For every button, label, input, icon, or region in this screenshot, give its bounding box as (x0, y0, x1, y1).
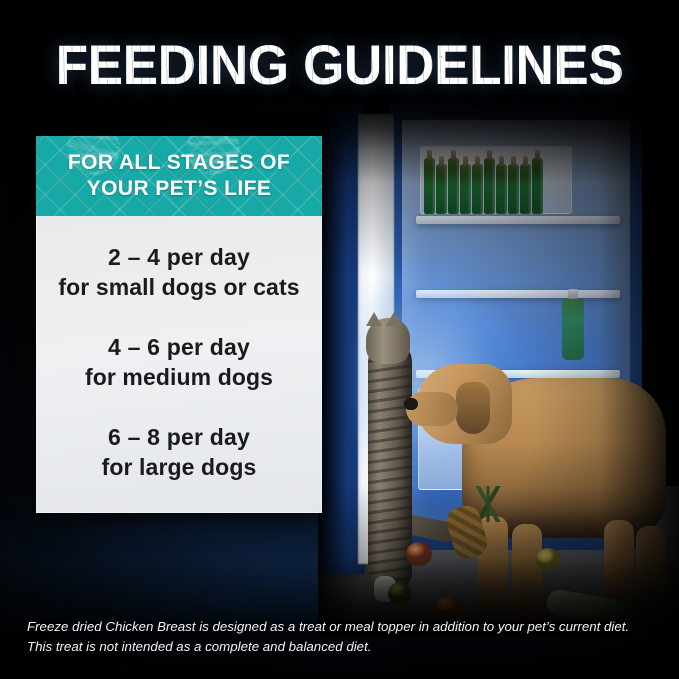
feeding-row-small: 2 – 4 per day for small dogs or cats (47, 242, 311, 302)
card-header-line-1: FOR ALL STAGES OF (68, 151, 290, 174)
card-header-line-2: YOUR PET’S LIFE (87, 177, 272, 200)
feeding-audience: for large dogs (47, 452, 311, 482)
disclaimer-line-2: This treat is not intended as a complete… (27, 637, 661, 657)
card-header: FOR ALL STAGES OF YOUR PET’S LIFE (36, 136, 322, 216)
feeding-guidelines-poster: FEEDING GUIDELINES FOR ALL STAGES OF YOU… (0, 0, 679, 679)
disclaimer-line-1: Freeze dried Chicken Breast is designed … (27, 617, 661, 637)
feeding-amount: 2 – 4 per day (47, 242, 311, 272)
feeding-amount: 4 – 6 per day (47, 332, 311, 362)
feeding-audience: for medium dogs (47, 362, 311, 392)
feeding-amount: 6 – 8 per day (47, 422, 311, 452)
page-title: FEEDING GUIDELINES (17, 36, 662, 94)
feeding-guidelines-card: FOR ALL STAGES OF YOUR PET’S LIFE 2 – 4 … (36, 136, 322, 513)
feeding-audience: for small dogs or cats (47, 272, 311, 302)
disclaimer: Freeze dried Chicken Breast is designed … (27, 617, 661, 657)
feeding-row-medium: 4 – 6 per day for medium dogs (47, 332, 311, 392)
feeding-row-large: 6 – 8 per day for large dogs (47, 422, 311, 482)
card-header-title: FOR ALL STAGES OF YOUR PET’S LIFE (58, 150, 300, 202)
card-body: 2 – 4 per day for small dogs or cats 4 –… (36, 216, 322, 513)
page-title-text: FEEDING GUIDELINES (56, 36, 624, 94)
